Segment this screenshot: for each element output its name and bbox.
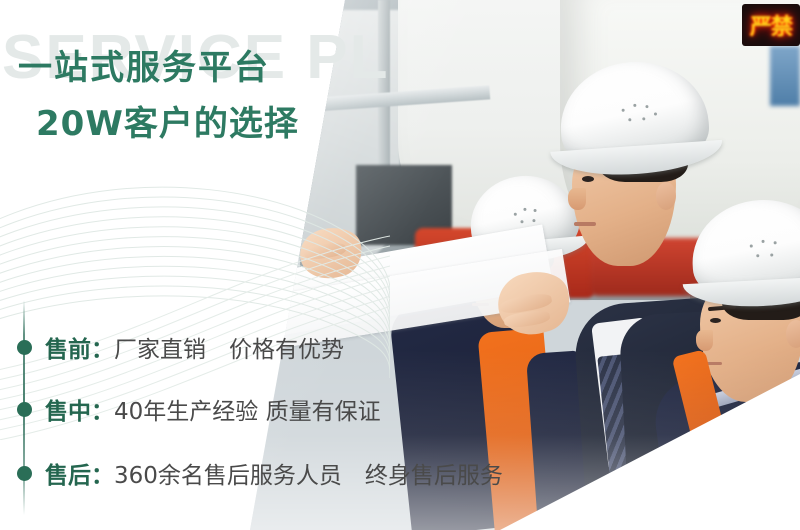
promo-banner: 严禁 [0,0,800,530]
service-item-aftersale: 售后： 360余名售后服务人员 终身售后服务 [0,456,503,490]
service-label: 售前： [45,330,114,364]
timeline-dot [17,340,32,355]
service-item-presale: 售前： 厂家直销 价格有优势 [0,330,344,364]
worker-photo: 严禁 [0,0,800,530]
timeline-dot [17,466,32,481]
service-label: 售后： [45,456,114,490]
headline-primary: 一站式服务平台 [18,40,270,89]
service-label: 售中： [45,392,114,426]
photo-region: 严禁 [0,0,800,530]
service-text: 40年生产经验 质量有保证 [114,392,381,426]
headline-secondary: 20W客户的选择 [36,96,299,145]
service-text: 厂家直销 价格有优势 [114,330,344,364]
timeline-dot [17,402,32,417]
service-text: 360余名售后服务人员 终身售后服务 [114,456,503,490]
service-item-midsale: 售中： 40年生产经验 质量有保证 [0,392,381,426]
